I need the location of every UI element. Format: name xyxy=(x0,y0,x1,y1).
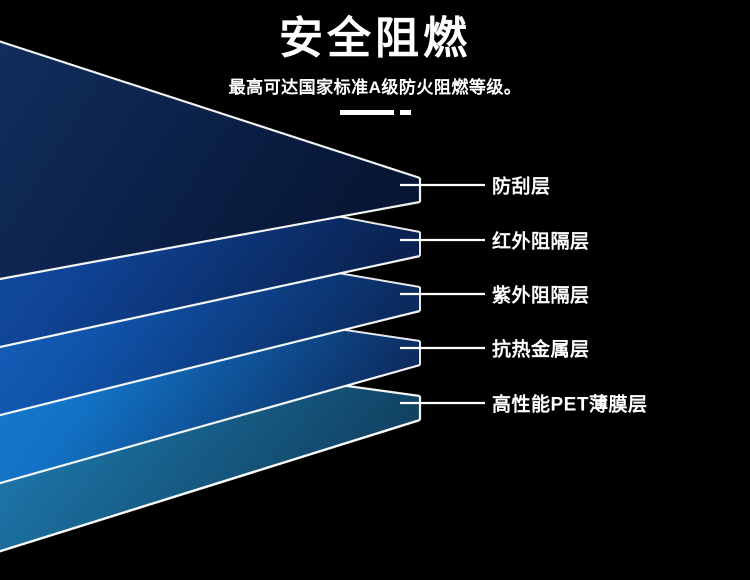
callout-labels: 防刮层 红外阻隔层 紫外阻隔层 抗热金属层 高性能PET薄膜层 xyxy=(0,0,750,580)
layer-label-infrared-block: 红外阻隔层 xyxy=(492,227,590,254)
layer-label-ultraviolet-block: 紫外阻隔层 xyxy=(492,281,590,308)
layer-label-scratch-resistant: 防刮层 xyxy=(492,172,551,199)
layer-label-heat-resistant-metal: 抗热金属层 xyxy=(492,335,590,362)
product-layer-diagram: 安全阻燃 最高可达国家标准A级防火阻燃等级。 防刮层 红外阻隔层 紫外阻隔层 抗… xyxy=(0,0,750,580)
layer-label-high-performance-pet: 高性能PET薄膜层 xyxy=(492,390,647,417)
